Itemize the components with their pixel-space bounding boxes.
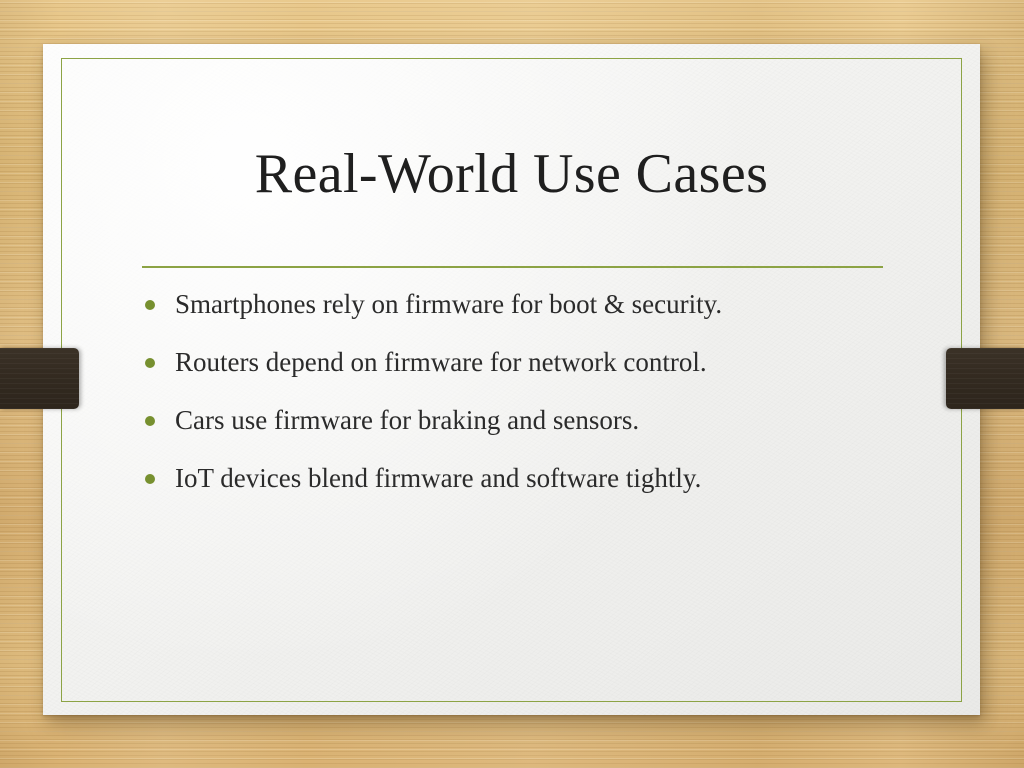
title-divider xyxy=(142,266,883,268)
list-item: IoT devices blend firmware and software … xyxy=(142,461,925,495)
list-item: Cars use firmware for braking and sensor… xyxy=(142,403,925,437)
bullet-list: Smartphones rely on firmware for boot & … xyxy=(142,287,925,519)
list-item: Smartphones rely on firmware for boot & … xyxy=(142,287,925,321)
bullet-dot-icon xyxy=(145,474,155,484)
list-item-label: IoT devices blend firmware and software … xyxy=(175,463,701,493)
list-item-label: Cars use firmware for braking and sensor… xyxy=(175,405,639,435)
list-item-label: Routers depend on firmware for network c… xyxy=(175,347,707,377)
binder-clip-left xyxy=(0,348,79,409)
slide-paper: Real-World Use Cases Smartphones rely on… xyxy=(43,44,980,715)
bullet-dot-icon xyxy=(145,358,155,368)
page-title: Real-World Use Cases xyxy=(43,145,980,204)
bullet-dot-icon xyxy=(145,300,155,310)
list-item-label: Smartphones rely on firmware for boot & … xyxy=(175,289,722,319)
slide-stage: Real-World Use Cases Smartphones rely on… xyxy=(0,0,1024,768)
bullet-dot-icon xyxy=(145,416,155,426)
binder-clip-right xyxy=(946,348,1024,409)
list-item: Routers depend on firmware for network c… xyxy=(142,345,925,379)
